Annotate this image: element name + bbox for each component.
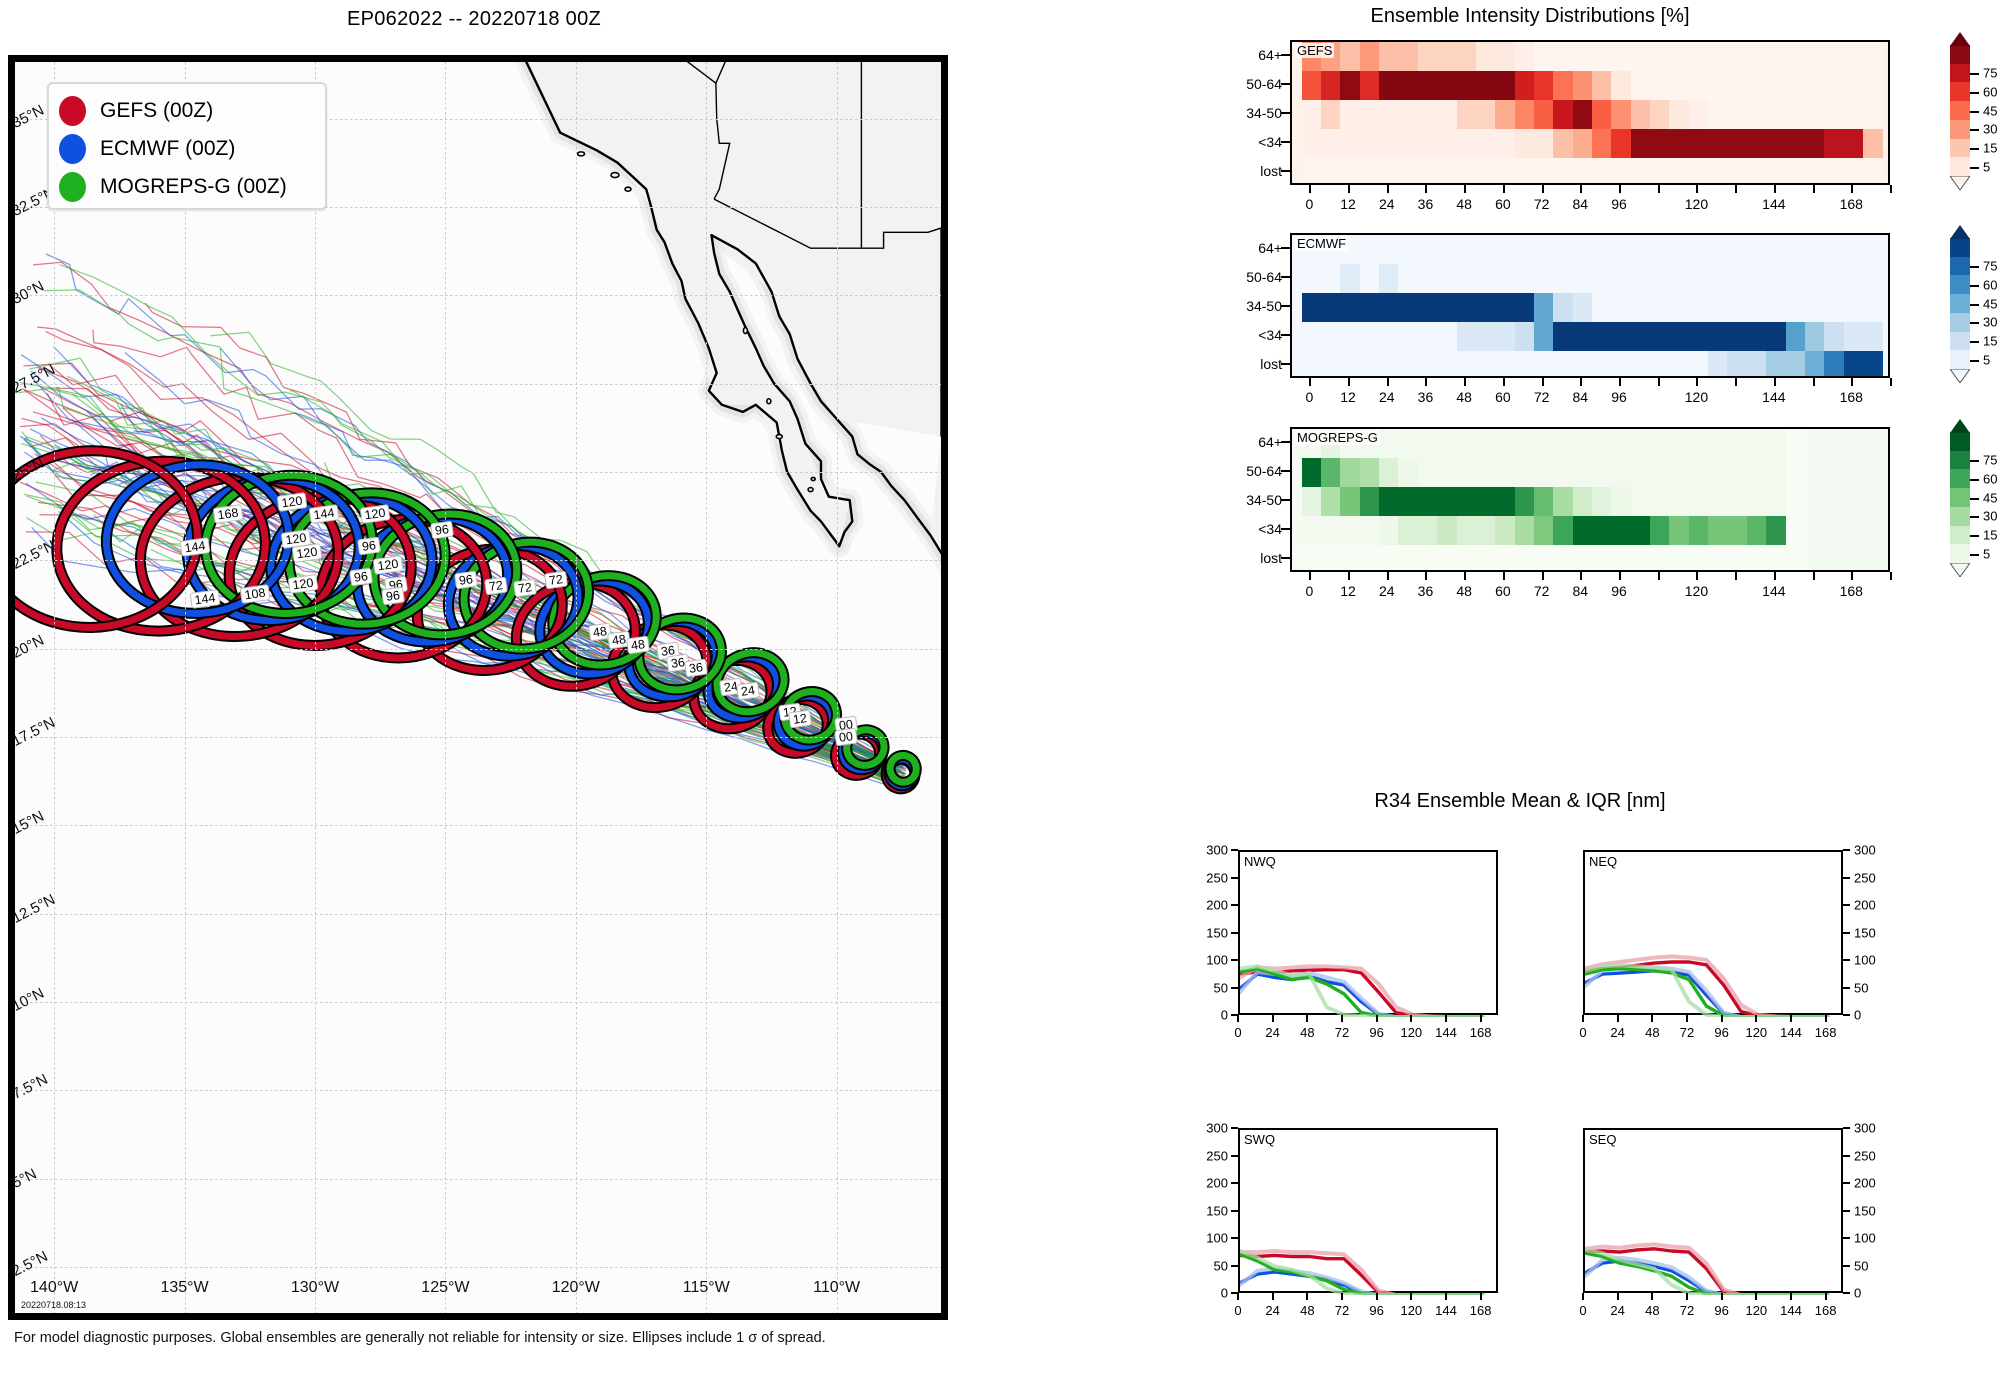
r34-plot-area[interactable]: SWQ [1238, 1128, 1498, 1293]
heatmap-y-tick [1281, 83, 1290, 85]
r34-y-label: 50 [1190, 980, 1228, 995]
r34-y-tick [1231, 1265, 1238, 1267]
ellipse-lead-label: 72 [484, 577, 508, 596]
heatmap-cell [1805, 42, 1825, 72]
heatmap-cell [1476, 235, 1496, 265]
heatmap-cell [1824, 293, 1844, 323]
r34-y-label: 100 [1190, 953, 1228, 968]
r34-x-label: 0 [1579, 1025, 1586, 1040]
r34-x-label: 72 [1335, 1025, 1349, 1040]
heatmap-cell [1534, 235, 1554, 265]
r34-y-label: 250 [1190, 1148, 1228, 1163]
heatmap-y-tick [1281, 528, 1290, 530]
r34-x-tick [1410, 1015, 1412, 1022]
heatmap-cell [1573, 235, 1593, 265]
heatmap-cell [1786, 487, 1806, 517]
colorbar-label: 5 [1983, 352, 1990, 367]
r34-x-label: 168 [1470, 1025, 1492, 1040]
heatmap-y-tick [1281, 170, 1290, 172]
heatmap-cell [1418, 71, 1438, 101]
r34-y-label: 150 [1190, 1203, 1228, 1218]
heatmap-cell [1611, 100, 1631, 130]
heatmap-cell [1398, 293, 1418, 323]
heatmap-cell [1495, 158, 1515, 185]
heatmap-x-tick [1851, 572, 1853, 580]
ellipse-lead-label: 72 [544, 571, 568, 590]
colorbar-label: 45 [1983, 490, 1997, 505]
heatmap-y-label: lost [1212, 550, 1282, 566]
colorbar-tick [1970, 266, 1979, 268]
heatmap-x-tick [1464, 378, 1466, 386]
heatmap-x-label: 72 [1534, 196, 1550, 212]
heatmap-cell [1863, 351, 1883, 378]
heatmap-model-tag: ECMWF [1295, 236, 1348, 251]
r34-x-tick [1790, 1293, 1792, 1300]
heatmap-cell [1669, 293, 1689, 323]
heatmap-cell [1708, 293, 1728, 323]
heatmap-cell [1669, 100, 1689, 130]
colorbar-tick [1970, 460, 1979, 462]
heatmap-cell [1437, 71, 1457, 101]
heatmap-cell [1766, 129, 1786, 159]
heatmap-cell [1495, 235, 1515, 265]
heatmap-cell [1534, 545, 1554, 572]
heatmap-cell [1457, 293, 1477, 323]
heatmap-cell [1495, 429, 1515, 459]
heatmap-cell [1534, 158, 1554, 185]
heatmap-cell [1302, 264, 1322, 294]
heatmap-cell [1457, 545, 1477, 572]
colorbar-segment [1950, 64, 1970, 83]
r34-plot-area[interactable]: NWQ [1238, 850, 1498, 1015]
colorbar-tick [1970, 111, 1979, 113]
heatmap-y-tick [1281, 441, 1290, 443]
heatmap-cell [1766, 264, 1786, 294]
r34-y-tick [1231, 849, 1238, 851]
heatmap-cell [1766, 429, 1786, 459]
heatmap-x-label: 24 [1379, 389, 1395, 405]
heatmap-cell [1360, 487, 1380, 517]
heatmap-cell [1398, 129, 1418, 159]
heatmap-cell [1727, 545, 1747, 572]
heatmap-cell [1321, 129, 1341, 159]
heatmap-x-tick [1851, 185, 1853, 193]
heatmap-cell [1747, 429, 1767, 459]
colorbar-over-arrow [1950, 419, 1970, 433]
lon-tick-label: 120°W [552, 1279, 600, 1297]
r34-y-tick [1843, 1210, 1850, 1212]
heatmap-x-tick [1735, 378, 1737, 386]
heatmap-x-tick [1503, 185, 1505, 193]
heatmap-x-label: 84 [1573, 196, 1589, 212]
heatmap-cell [1631, 487, 1651, 517]
heatmap-cell [1669, 235, 1689, 265]
map-gridline-lat [15, 295, 941, 296]
ellipse-lead-label: 36 [684, 659, 708, 678]
r34-x-label: 24 [1610, 1025, 1624, 1040]
r34-y-tick [1843, 877, 1850, 879]
heatmap-cell [1727, 158, 1747, 185]
heatmap-cell [1418, 516, 1438, 546]
heatmap-cell [1437, 487, 1457, 517]
heatmap-cell [1592, 129, 1612, 159]
heatmap-cell [1786, 100, 1806, 130]
heatmap-cell [1786, 264, 1806, 294]
heatmap-cell [1689, 516, 1709, 546]
heatmap-cell [1863, 293, 1883, 323]
heatmap-x-label: 48 [1456, 583, 1472, 599]
heatmap-cell [1824, 351, 1844, 378]
heatmap-cell [1457, 458, 1477, 488]
heatmap-cell [1786, 42, 1806, 72]
heatmap-cell [1495, 516, 1515, 546]
heatmap-x-tick [1309, 378, 1311, 386]
r34-y-label: 50 [1854, 1258, 1868, 1273]
heatmap-cell [1534, 100, 1554, 130]
heatmap-x-label: 48 [1456, 196, 1472, 212]
heatmap-x-tick [1890, 378, 1892, 386]
r34-y-tick [1843, 1182, 1850, 1184]
colorbar-segment [1950, 157, 1970, 176]
heatmap-x-label: 36 [1418, 196, 1434, 212]
render-timestamp: 20220718.08:13 [21, 1300, 86, 1310]
ellipse-lead-label: 72 [513, 579, 537, 598]
colorbar-tick [1970, 285, 1979, 287]
heatmap-cell [1553, 351, 1573, 378]
colorbar-tick [1970, 92, 1979, 94]
colorbar-label: 30 [1983, 509, 1997, 524]
heatmap-plot-area[interactable]: MOGREPS-G [1290, 427, 1890, 572]
r34-y-tick [1843, 1127, 1850, 1129]
heatmap-x-label: 120 [1685, 389, 1708, 405]
heatmap-cell [1669, 42, 1689, 72]
heatmap-cell [1418, 100, 1438, 130]
heatmap-cell [1515, 264, 1535, 294]
colorbar-tick [1970, 498, 1979, 500]
heatmap-cell [1457, 42, 1477, 72]
heatmap-cell [1611, 264, 1631, 294]
heatmap-cell [1379, 293, 1399, 323]
heatmap-x-tick [1890, 185, 1892, 193]
heatmap-cell [1302, 487, 1322, 517]
heatmap-cell [1727, 129, 1747, 159]
map-gridline-lat [15, 1267, 941, 1268]
r34-y-label: 0 [1854, 1008, 1861, 1023]
heatmap-cell [1766, 545, 1786, 572]
heatmap-cell [1766, 293, 1786, 323]
heatmap-cell [1592, 545, 1612, 572]
heatmap-cell [1786, 71, 1806, 101]
heatmap-cell [1340, 351, 1360, 378]
heatmap-cell [1727, 264, 1747, 294]
heatmap-cell [1747, 71, 1767, 101]
heatmap-x-tick [1425, 185, 1427, 193]
heatmap-cell [1515, 71, 1535, 101]
heatmap-plot-area[interactable]: ECMWF [1290, 233, 1890, 378]
lon-tick-label: 125°W [421, 1279, 469, 1297]
heatmap-x-tick [1503, 572, 1505, 580]
colorbar-tick [1970, 341, 1979, 343]
heatmap-cell [1805, 264, 1825, 294]
r34-x-tick [1341, 1293, 1343, 1300]
heatmap-cell [1495, 322, 1515, 352]
heatmap-cell [1573, 351, 1593, 378]
r34-x-label: 24 [1265, 1303, 1279, 1318]
heatmap-x-label: 24 [1379, 583, 1395, 599]
heatmap-x-tick [1658, 572, 1660, 580]
colorbar-label: 45 [1983, 103, 1997, 118]
heatmap-cell [1553, 545, 1573, 572]
heatmap-cell [1844, 322, 1864, 352]
heatmap-x-label: 12 [1340, 583, 1356, 599]
heatmap-cell [1631, 42, 1651, 72]
heatmap-model-tag: MOGREPS-G [1295, 430, 1380, 445]
heatmap-x-tick [1348, 572, 1350, 580]
heatmap-x-tick [1735, 572, 1737, 580]
heatmap-cell [1515, 129, 1535, 159]
heatmap-cell [1669, 429, 1689, 459]
heatmap-cell [1360, 351, 1380, 378]
heatmap-cell [1534, 71, 1554, 101]
ellipse-lead-label: 96 [454, 571, 478, 590]
heatmap-cell [1824, 158, 1844, 185]
heatmap-cell [1495, 100, 1515, 130]
heatmap-cell [1321, 545, 1341, 572]
heatmap-cell [1611, 516, 1631, 546]
r34-x-tick [1790, 1015, 1792, 1022]
colorbar-segment [1950, 120, 1970, 139]
colorbar-label: 60 [1983, 84, 1997, 99]
heatmap-cell [1727, 351, 1747, 378]
r34-y-tick [1843, 904, 1850, 906]
colorbar-label: 60 [1983, 277, 1997, 292]
colorbar-label: 75 [1983, 66, 1997, 81]
r34-y-tick [1231, 904, 1238, 906]
heatmap-cell [1534, 516, 1554, 546]
track-map-panel[interactable]: 140°W135°W130°W125°W120°W115°W110°W35°N3… [8, 55, 948, 1320]
heatmap-x-label: 144 [1762, 583, 1785, 599]
heatmap-cell [1360, 264, 1380, 294]
heatmap-cell [1863, 322, 1883, 352]
r34-y-label: 250 [1190, 870, 1228, 885]
heatmap-cell [1650, 322, 1670, 352]
heatmap-cell [1476, 429, 1496, 459]
heatmap-x-label: 12 [1340, 196, 1356, 212]
heatmap-x-label: 60 [1495, 389, 1511, 405]
heatmap-x-label: 72 [1534, 583, 1550, 599]
r34-x-tick [1755, 1293, 1757, 1300]
heatmap-cell [1863, 235, 1883, 265]
heatmap-cell [1437, 429, 1457, 459]
heatmap-cell [1534, 487, 1554, 517]
r34-plot-area[interactable]: SEQ [1583, 1128, 1843, 1293]
heatmap-cell [1476, 351, 1496, 378]
heatmap-cell [1340, 322, 1360, 352]
heatmap-cell [1476, 487, 1496, 517]
heatmap-x-tick [1542, 572, 1544, 580]
map-gridline-lat [15, 914, 941, 915]
heatmap-cell [1708, 487, 1728, 517]
heatmap-cell [1495, 487, 1515, 517]
colorbar-over-arrow [1950, 32, 1970, 46]
heatmap-x-label: 168 [1840, 196, 1863, 212]
r34-x-tick [1721, 1015, 1723, 1022]
heatmap-cell [1747, 100, 1767, 130]
lon-tick-label: 140°W [30, 1279, 78, 1297]
heatmap-cell [1553, 235, 1573, 265]
heatmap-cell [1534, 42, 1554, 72]
heatmap-cell [1863, 42, 1883, 72]
colorbar-tick [1970, 129, 1979, 131]
heatmap-cell [1379, 158, 1399, 185]
heatmap-cell [1592, 158, 1612, 185]
heatmap-cell [1708, 516, 1728, 546]
heatmap-cell [1786, 458, 1806, 488]
heatmap-plot-area[interactable]: GEFS [1290, 40, 1890, 185]
heatmap-cell [1340, 293, 1360, 323]
heatmap-cell [1437, 129, 1457, 159]
heatmap-cell [1495, 264, 1515, 294]
map-gridline-lon [706, 62, 707, 1313]
heatmap-cell [1708, 429, 1728, 459]
r34-x-tick [1341, 1015, 1343, 1022]
map-canvas[interactable]: 140°W135°W130°W125°W120°W115°W110°W35°N3… [15, 62, 941, 1313]
heatmap-cell [1553, 322, 1573, 352]
r34-y-label: 50 [1190, 1258, 1228, 1273]
heatmap-x-label: 96 [1611, 196, 1627, 212]
heatmap-cell [1689, 351, 1709, 378]
heatmap-cell [1669, 322, 1689, 352]
heatmap-cell [1747, 322, 1767, 352]
r34-y-tick [1231, 1127, 1238, 1129]
heatmap-x-tick [1619, 378, 1621, 386]
colorbar-segment [1950, 45, 1970, 64]
colorbar-under-arrow [1950, 176, 1970, 190]
colorbar-segment [1950, 238, 1970, 257]
colorbar-label: 5 [1983, 159, 1990, 174]
r34-y-tick [1843, 1265, 1850, 1267]
legend-swatch-mogreps [59, 172, 86, 202]
heatmap-x-tick [1696, 572, 1698, 580]
heatmap-x-tick [1774, 572, 1776, 580]
r34-y-tick [1843, 1237, 1850, 1239]
colorbar-segment [1950, 526, 1970, 545]
heatmap-cell [1611, 158, 1631, 185]
heatmap-cell [1457, 351, 1477, 378]
colorbar-label: 45 [1983, 296, 1997, 311]
heatmap-cell [1650, 158, 1670, 185]
heatmap-cell [1360, 293, 1380, 323]
r34-x-tick [1825, 1293, 1827, 1300]
r34-x-tick [1686, 1015, 1688, 1022]
heatmap-cell [1747, 264, 1767, 294]
heatmap-cell [1650, 458, 1670, 488]
heatmap-y-label: 64+ [1212, 240, 1282, 256]
heatmap-cell [1708, 351, 1728, 378]
colorbar-under-arrow [1950, 563, 1970, 577]
heatmap-cell [1844, 264, 1864, 294]
heatmap-colorbar [1950, 238, 1970, 369]
heatmap-cell [1573, 293, 1593, 323]
r34-series-graphics [1585, 1130, 1845, 1295]
heatmap-cell [1360, 42, 1380, 72]
heatmap-cell [1302, 71, 1322, 101]
heatmap-cell [1418, 235, 1438, 265]
heatmap-cell [1766, 42, 1786, 72]
ellipse-lead-label: 96 [349, 568, 373, 587]
r34-y-label: 300 [1854, 843, 1876, 858]
colorbar-segment [1950, 332, 1970, 351]
r34-y-tick [1843, 932, 1850, 934]
r34-y-tick [1231, 877, 1238, 879]
heatmap-cell [1805, 100, 1825, 130]
heatmap-cell [1476, 100, 1496, 130]
colorbar-label: 30 [1983, 122, 1997, 137]
heatmap-cell [1611, 351, 1631, 378]
heatmap-cell [1747, 129, 1767, 159]
heatmap-cell [1824, 129, 1844, 159]
r34-x-tick [1617, 1293, 1619, 1300]
heatmap-cell [1844, 42, 1864, 72]
r34-plot-area[interactable]: NEQ [1583, 850, 1843, 1015]
heatmap-cell [1708, 42, 1728, 72]
heatmap-x-label: 0 [1305, 583, 1313, 599]
heatmap-cell [1689, 322, 1709, 352]
heatmap-cell [1340, 158, 1360, 185]
r34-y-tick [1843, 1014, 1850, 1016]
r34-x-label: 48 [1645, 1025, 1659, 1040]
heatmap-x-tick [1542, 185, 1544, 193]
r34-y-label: 200 [1854, 1176, 1876, 1191]
colorbar-under-arrow [1950, 369, 1970, 383]
heatmap-cell [1844, 158, 1864, 185]
heatmap-cell [1495, 458, 1515, 488]
heatmap-cell [1766, 487, 1786, 517]
heatmap-cell [1302, 100, 1322, 130]
r34-x-label: 24 [1610, 1303, 1624, 1318]
ellipse-lead-label: 96 [430, 521, 454, 540]
heatmap-cell [1340, 42, 1360, 72]
heatmap-cell [1515, 293, 1535, 323]
heatmap-cell [1398, 487, 1418, 517]
heatmap-x-tick [1658, 378, 1660, 386]
heatmap-cell [1747, 235, 1767, 265]
heatmap-cell [1379, 351, 1399, 378]
heatmap-cell [1302, 129, 1322, 159]
heatmap-y-tick [1281, 276, 1290, 278]
colorbar-tick [1970, 554, 1979, 556]
heatmap-cell [1534, 458, 1554, 488]
r34-x-tick [1721, 1293, 1723, 1300]
heatmap-x-tick [1735, 185, 1737, 193]
heatmap-y-tick [1281, 470, 1290, 472]
map-gridline-lat [15, 1002, 941, 1003]
heatmap-x-tick [1619, 185, 1621, 193]
heatmap-cell [1631, 516, 1651, 546]
heatmap-cell [1747, 487, 1767, 517]
colorbar-segment [1950, 313, 1970, 332]
r34-x-tick [1237, 1015, 1239, 1022]
heatmap-cell [1495, 42, 1515, 72]
r34-x-tick [1582, 1293, 1584, 1300]
colorbar-segment [1950, 257, 1970, 276]
heatmap-cell [1727, 516, 1747, 546]
r34-y-tick [1231, 1210, 1238, 1212]
r34-y-tick [1231, 1237, 1238, 1239]
heatmap-cell [1824, 100, 1844, 130]
heatmap-cell [1747, 42, 1767, 72]
r34-y-label: 0 [1190, 1008, 1228, 1023]
